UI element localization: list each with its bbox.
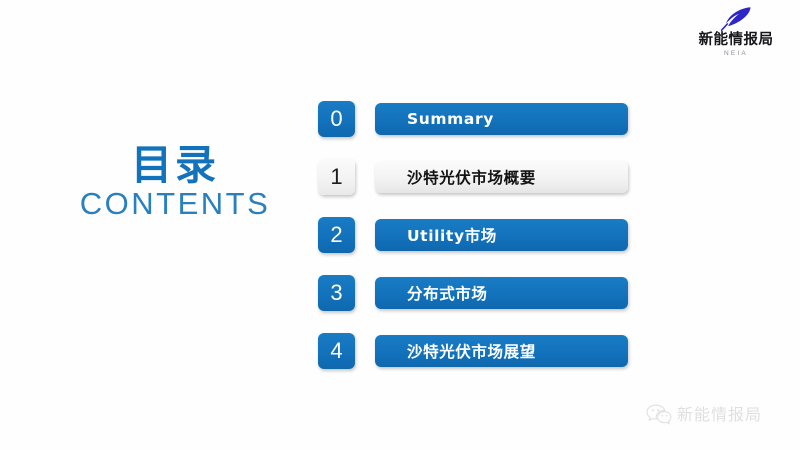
contents-item-label: Utility市场	[375, 224, 497, 246]
brand-name-cn: 新能情报局	[684, 32, 788, 48]
contents-item-bar[interactable]: Summary	[375, 103, 628, 135]
contents-item-4[interactable]: 4 沙特光伏市场展望	[318, 333, 628, 369]
contents-item-3[interactable]: 3 分布式市场	[318, 275, 628, 311]
feather-quill-icon	[684, 6, 788, 32]
brand-name-en: NEIA	[684, 49, 788, 58]
watermark-text: 新能情报局	[677, 406, 762, 424]
contents-item-bar[interactable]: 沙特光伏市场展望	[375, 335, 628, 367]
contents-item-label: 沙特光伏市场概要	[375, 166, 536, 188]
contents-item-bar[interactable]: 沙特光伏市场概要	[375, 161, 628, 193]
contents-item-number: 3	[318, 275, 355, 311]
contents-list: 0 Summary 1 沙特光伏市场概要 2 Utility市场 3 分布式市场…	[318, 101, 628, 369]
contents-item-label: 沙特光伏市场展望	[375, 340, 536, 362]
contents-item-2[interactable]: 2 Utility市场	[318, 217, 628, 253]
page-title: 目录 CONTENTS	[60, 142, 290, 221]
page-title-en: CONTENTS	[60, 187, 290, 221]
contents-item-number: 2	[318, 217, 355, 253]
page-title-cn: 目录	[60, 142, 290, 188]
contents-item-number: 1	[318, 159, 355, 195]
slide-canvas: 新能情报局 NEIA 目录 CONTENTS 0 Summary 1 沙特光伏市…	[0, 0, 800, 450]
contents-item-bar[interactable]: Utility市场	[375, 219, 628, 251]
wechat-icon	[646, 404, 672, 426]
contents-item-1[interactable]: 1 沙特光伏市场概要	[318, 159, 628, 195]
contents-item-number: 4	[318, 333, 355, 369]
contents-item-bar[interactable]: 分布式市场	[375, 277, 628, 309]
brand-logo: 新能情报局 NEIA	[684, 6, 788, 58]
contents-item-number: 0	[318, 101, 355, 137]
contents-item-label: 分布式市场	[375, 282, 488, 304]
contents-item-label: Summary	[375, 110, 494, 128]
watermark: 新能情报局	[646, 404, 762, 426]
contents-item-0[interactable]: 0 Summary	[318, 101, 628, 137]
